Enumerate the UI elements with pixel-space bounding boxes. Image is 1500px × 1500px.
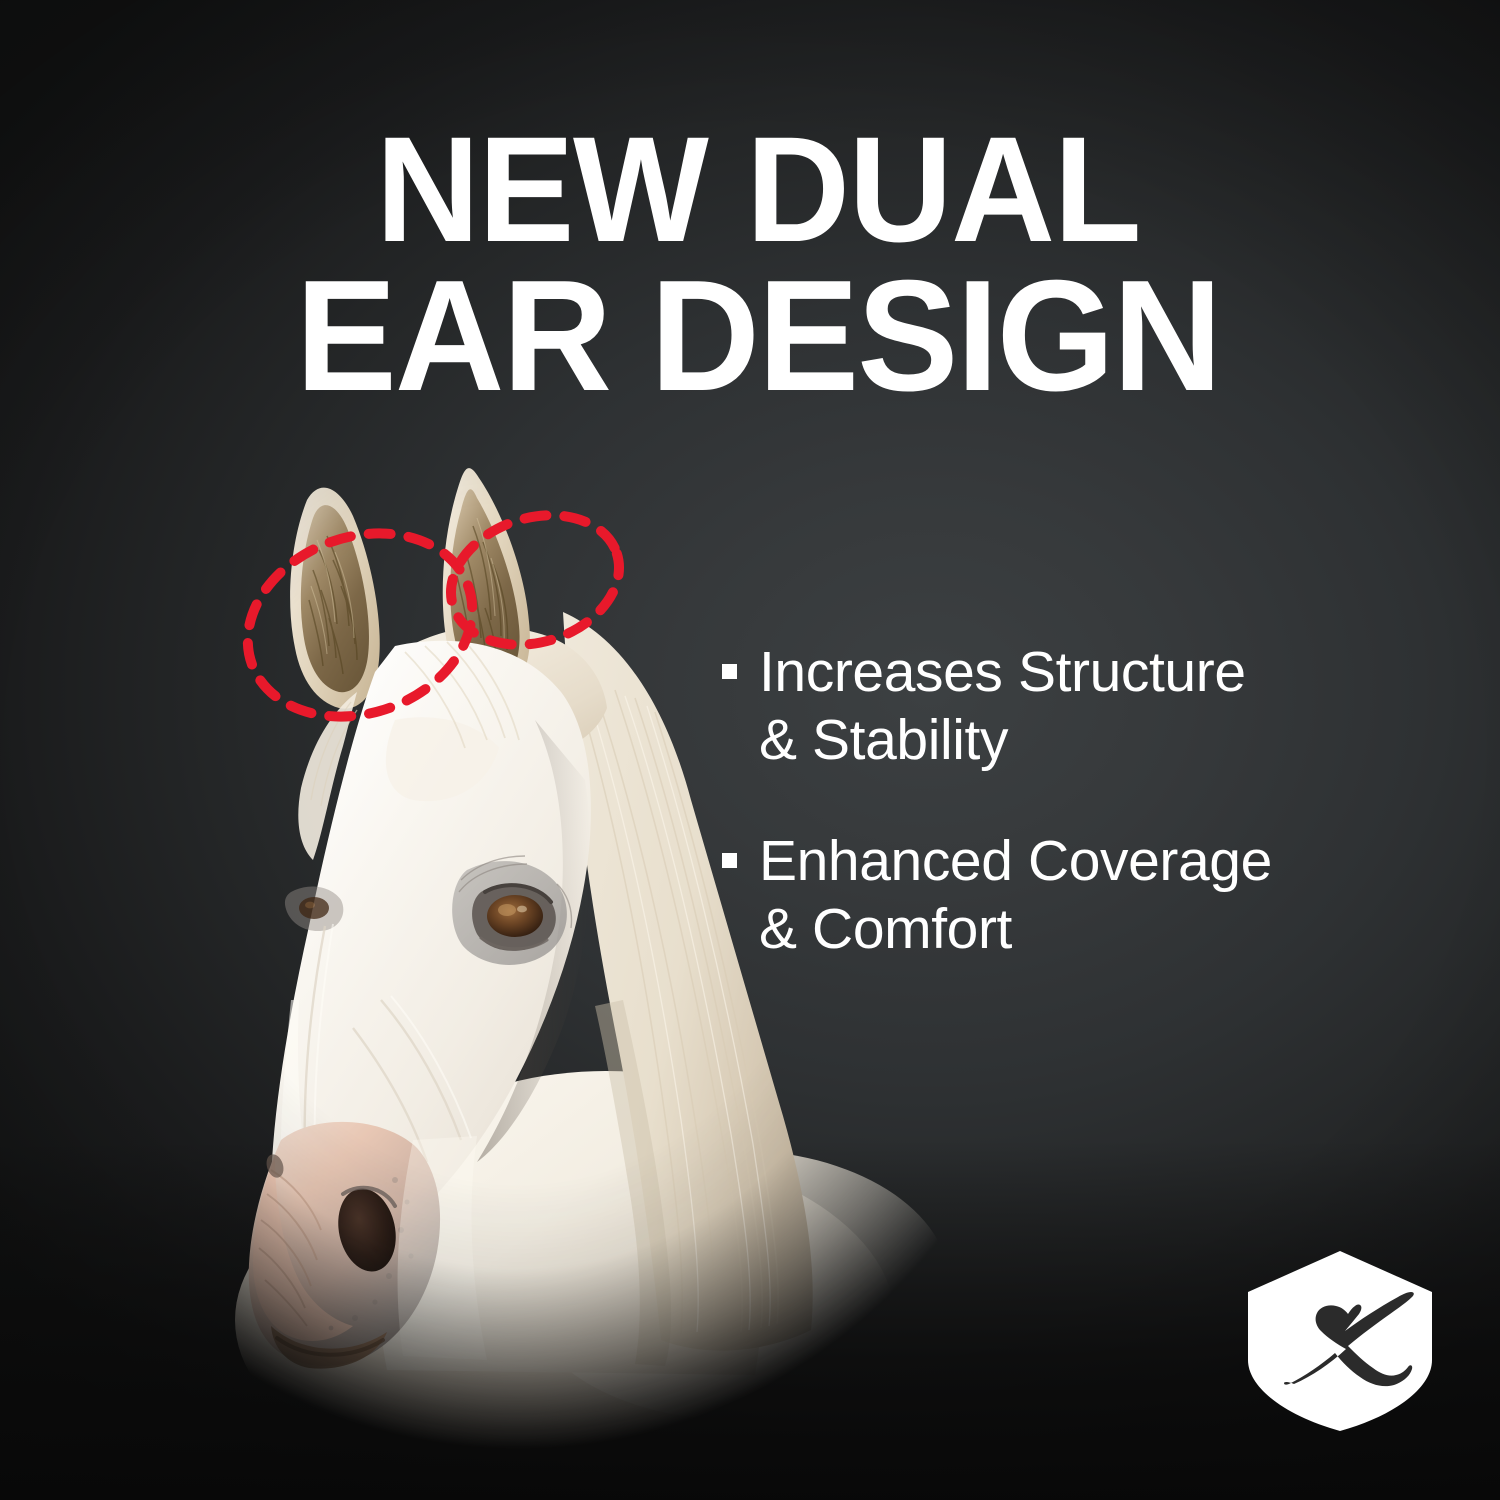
headline-line-2: EAR DESIGN bbox=[288, 261, 1229, 411]
square-bullet-icon bbox=[722, 853, 737, 868]
feature-text: Increases Structure & Stability bbox=[759, 638, 1246, 775]
feature-text: Enhanced Coverage & Comfort bbox=[759, 827, 1272, 964]
ad-creative-canvas: NEW DUAL EAR DESIGN Increases Structure … bbox=[0, 0, 1500, 1500]
square-bullet-icon bbox=[722, 664, 737, 679]
feature-text-line-1: Enhanced Coverage bbox=[759, 829, 1272, 893]
brand-logo bbox=[1242, 1248, 1438, 1434]
feature-list: Increases Structure & Stability Enhanced… bbox=[722, 638, 1422, 1016]
list-item: Increases Structure & Stability bbox=[722, 638, 1422, 775]
feature-text-line-2: & Comfort bbox=[759, 897, 1012, 961]
headline-line-1: NEW DUAL bbox=[288, 118, 1229, 261]
page-title: NEW DUAL EAR DESIGN bbox=[288, 118, 1229, 411]
list-item: Enhanced Coverage & Comfort bbox=[722, 827, 1422, 964]
feature-text-line-2: & Stability bbox=[759, 708, 1008, 772]
feature-text-line-1: Increases Structure bbox=[759, 640, 1246, 704]
